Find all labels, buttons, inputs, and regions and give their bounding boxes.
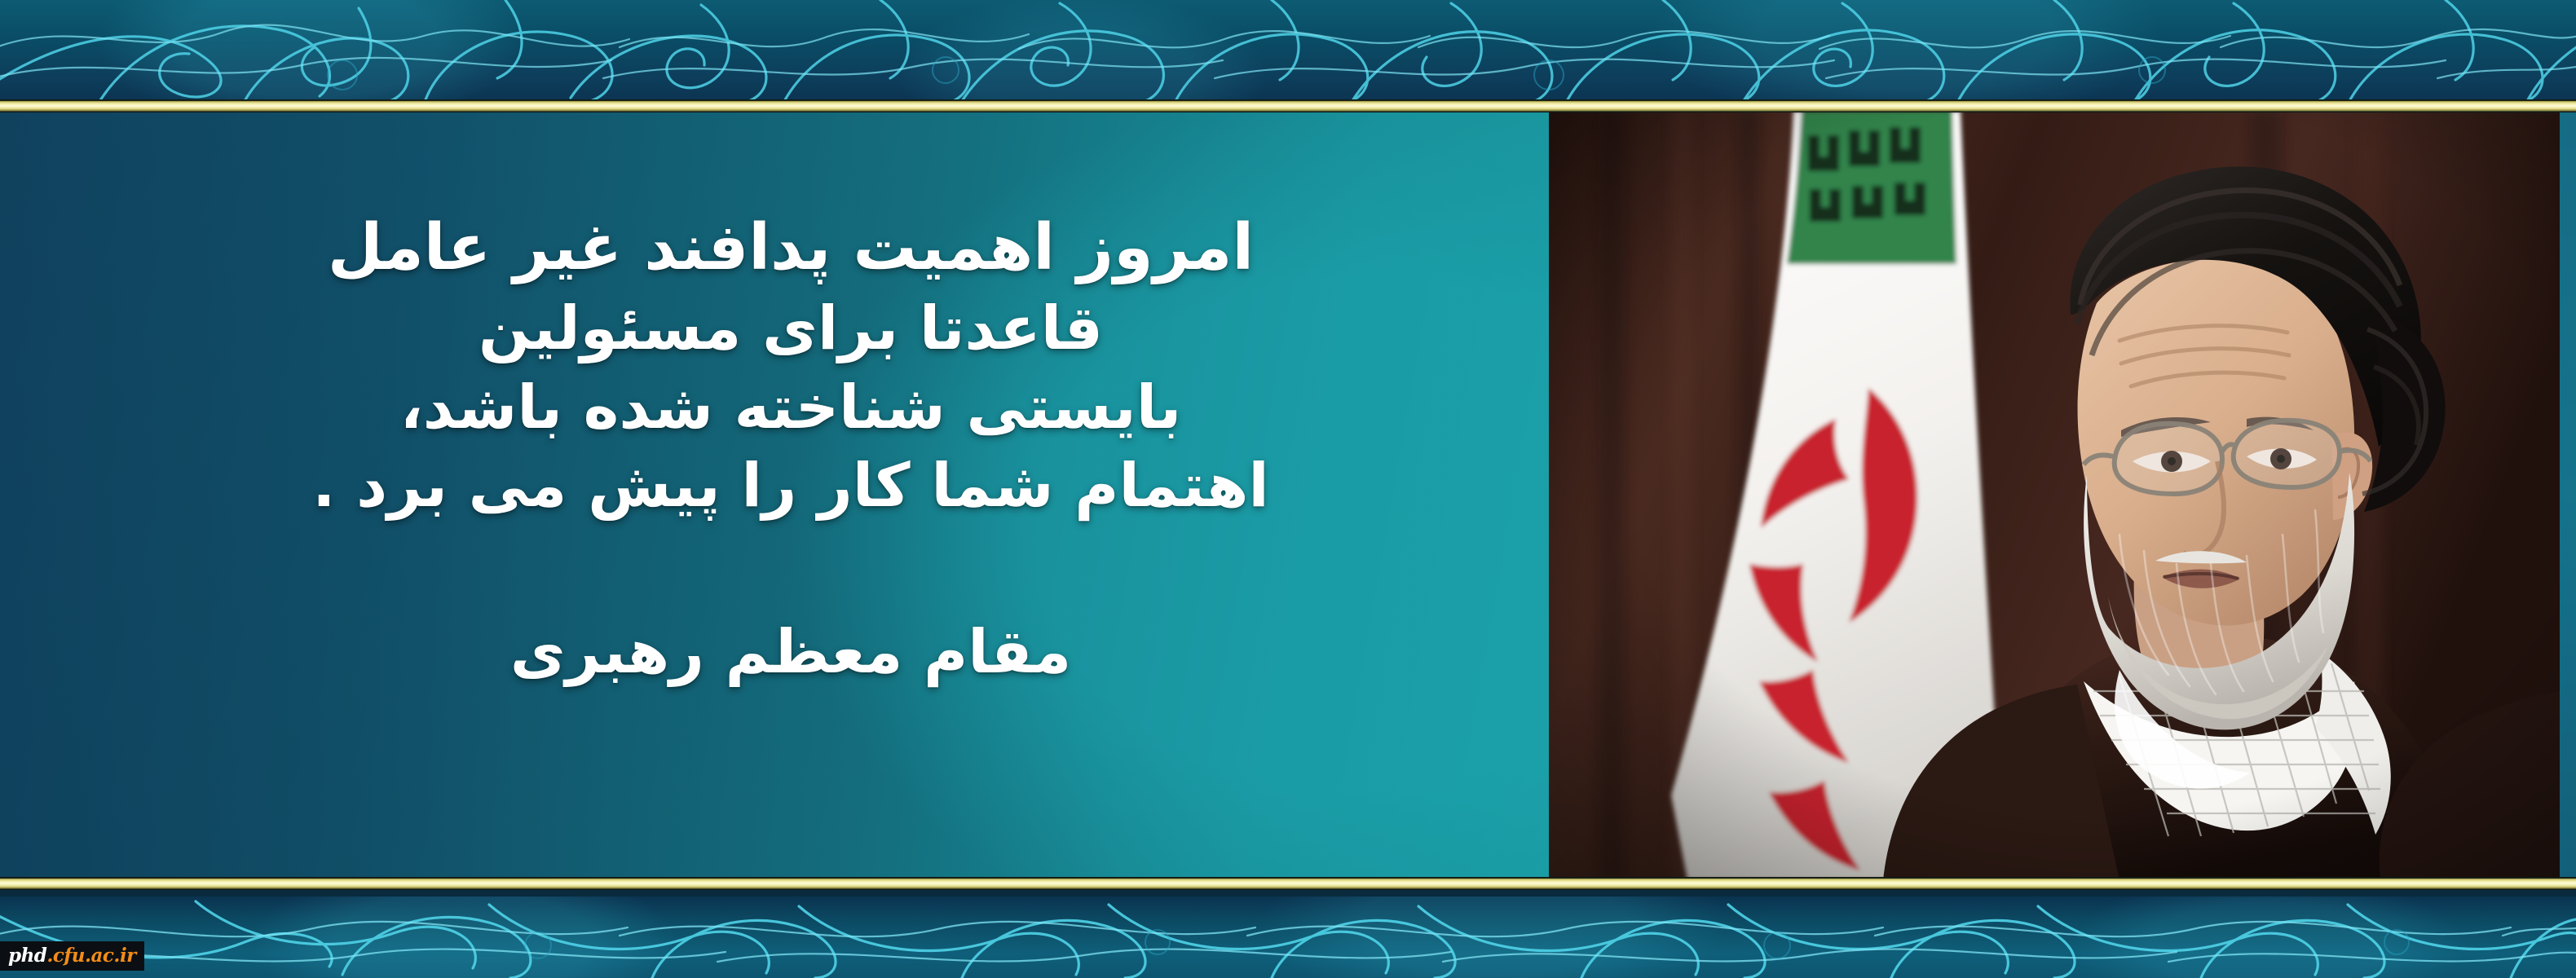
- top-ornamental-border: [0, 0, 2576, 104]
- site-watermark: phd.cfu.ac.ir: [0, 941, 144, 971]
- banner-root: امروز اهمیت پدافند غیر عامل قاعدتا برای …: [0, 0, 2576, 978]
- quote-attribution: مقام معظم رهبری: [187, 616, 1394, 689]
- right-edge-sliver: [2560, 111, 2576, 880]
- gold-rule-top: [0, 99, 2576, 112]
- quote-line-4: اهتمام شما کار را پیش می برد .: [187, 447, 1394, 525]
- quote-line-2: قاعدتا برای مسئولین: [187, 289, 1394, 368]
- gold-rule-bottom: [0, 877, 2576, 890]
- main-stage: امروز اهمیت پدافند غیر عامل قاعدتا برای …: [0, 111, 2576, 880]
- quote-line-3: بایستی شناخته شده باشد،: [187, 368, 1394, 447]
- portrait-photo: [1549, 111, 2560, 880]
- bottom-ornamental-border: [0, 896, 2576, 978]
- watermark-suffix: .cfu.ac.ir: [46, 945, 135, 967]
- quote-panel: امروز اهمیت پدافند غیر عامل قاعدتا برای …: [0, 111, 1549, 880]
- portrait-illustration: [1549, 111, 2560, 880]
- arabesque-pattern-icon: [0, 0, 2576, 104]
- quote-line-1: امروز اهمیت پدافند غیر عامل: [187, 207, 1394, 289]
- watermark-prefix: phd: [8, 945, 46, 967]
- quote-text-block: امروز اهمیت پدافند غیر عامل قاعدتا برای …: [187, 207, 1394, 689]
- arabesque-pattern-bottom-icon: [0, 896, 2576, 978]
